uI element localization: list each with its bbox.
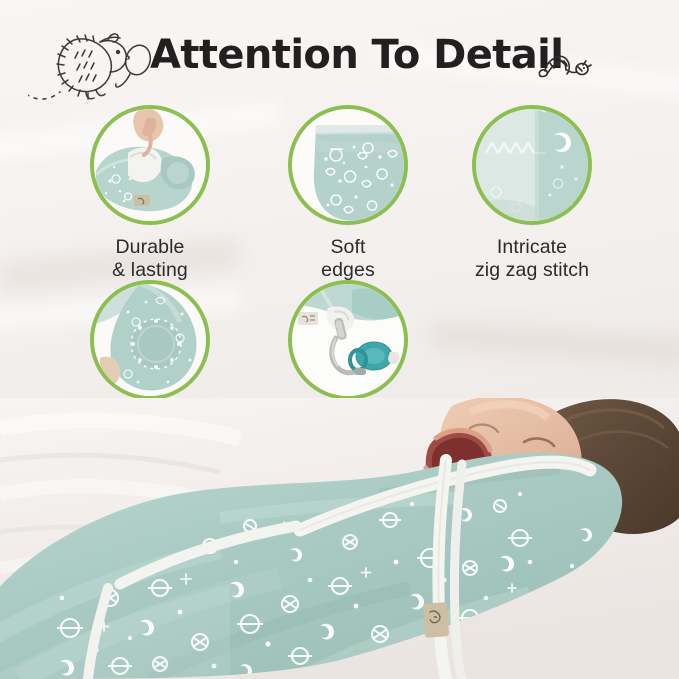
feature-image-scratch-free [90,280,210,400]
feature-caption-durable: Durable & lasting [86,236,214,282]
caption-line: & lasting [86,259,214,282]
page-title: Attention To Detail [150,32,563,78]
caption-line: Intricate [468,236,596,259]
feature-image-pacifier-loop [288,280,408,400]
feature-image-soft-edges [288,105,408,225]
infographic-canvas: Attention To Detail [0,0,679,679]
feature-image-durable [90,105,210,225]
hero-photo-swaddled-baby [0,398,679,679]
caption-line: edges [284,259,412,282]
caption-line: Durable [86,236,214,259]
caption-line: Soft [284,236,412,259]
caterpillar-icon [534,42,596,84]
feature-image-zig-zag-stitch [472,105,592,225]
brand-tag [423,602,449,638]
feature-caption-soft-edges: Soft edges [284,236,412,282]
feature-zig-zag-stitch: Intricate zig zag stitch [468,105,596,282]
hedgehog-icon [28,12,160,104]
caption-line: zig zag stitch [468,259,596,282]
feature-soft-edges: Soft edges [284,105,412,282]
feature-durable: Durable & lasting [86,105,214,282]
feature-caption-zig-zag-stitch: Intricate zig zag stitch [468,236,596,282]
